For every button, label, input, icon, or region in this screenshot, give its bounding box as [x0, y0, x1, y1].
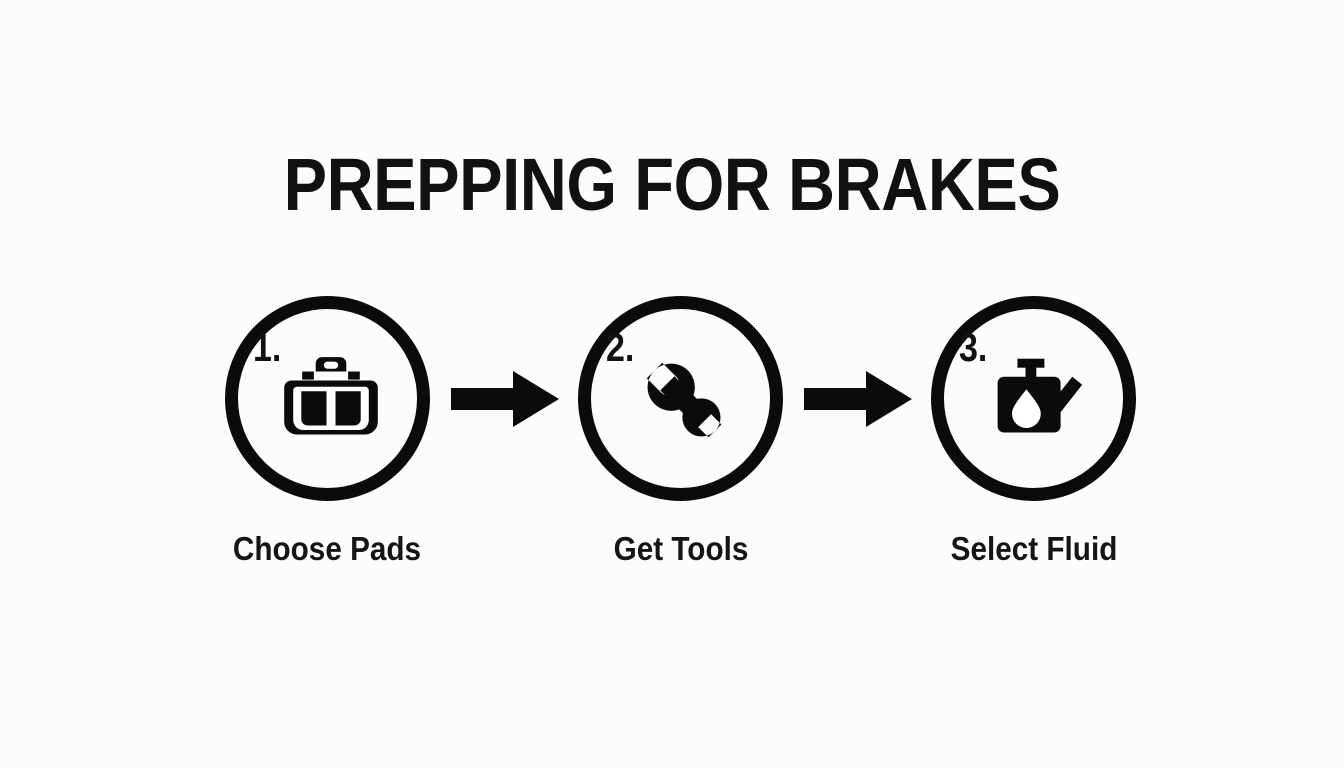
step-2-caption: Get Tools	[546, 530, 816, 568]
step-1[interactable]: 1.	[225, 296, 430, 501]
arrow-right-icon-2	[804, 371, 912, 427]
step-3[interactable]: 3.	[931, 296, 1136, 501]
brake-prep-infographic: PREPPING FOR BRAKES 1.	[0, 0, 1344, 768]
step-1-caption: Choose Pads	[192, 530, 462, 568]
page-title: PREPPING FOR BRAKES	[81, 146, 1264, 224]
steps-row: 1. 2.	[0, 296, 1344, 501]
step-3-caption: Select Fluid	[899, 530, 1169, 568]
step-2-number: 2.	[606, 328, 634, 368]
oil-can-icon	[985, 351, 1093, 451]
wrench-icon	[632, 352, 740, 452]
arrow-right-icon-1	[451, 371, 559, 427]
brake-pads-icon	[277, 353, 385, 453]
step-2[interactable]: 2.	[578, 296, 783, 501]
step-3-number: 3.	[959, 328, 987, 368]
